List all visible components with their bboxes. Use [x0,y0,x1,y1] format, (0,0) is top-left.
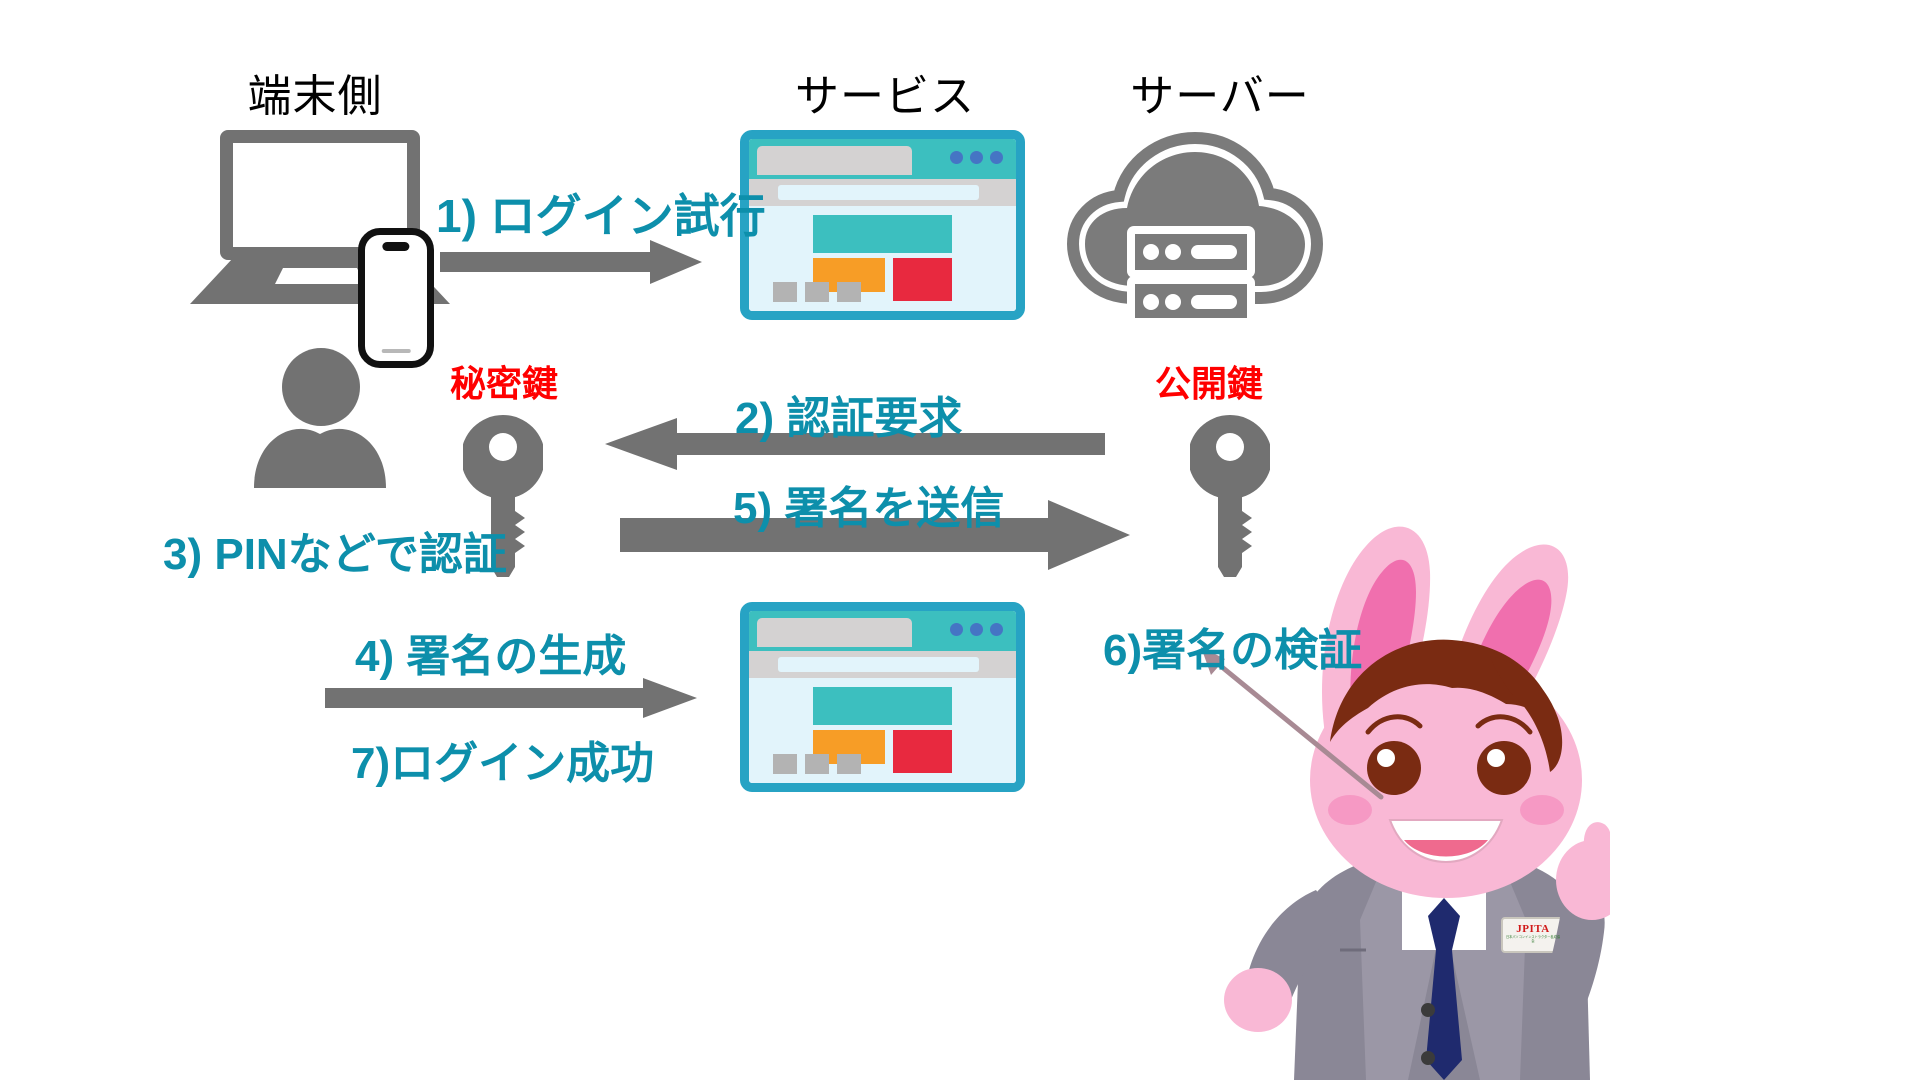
step-3-label: 3) PINなどで認証 [163,518,507,582]
heading-server: サーバー [1095,60,1345,124]
content-block-gray-1 [773,754,797,775]
diagram-canvas: 端末側 サービス サーバー 秘密鍵 [0,0,1920,1080]
content-block-teal [813,215,952,253]
content-block-gray-2 [805,282,829,303]
arrow-step-1 [440,240,720,290]
mascot-badge-subtext: 日本パソコンインストラクター養成協会 [1505,936,1561,944]
content-block-red [893,258,952,301]
step-2-label: 2) 認証要求 [735,382,962,446]
content-block-red [893,730,952,773]
browser-window-icon-bottom [740,602,1025,792]
content-block-gray-3 [837,754,861,775]
step-4-label: 4) 署名の生成 [355,620,626,684]
step-5-label: 5) 署名を送信 [733,472,1004,536]
browser-tab [757,618,912,647]
phone-notch-icon [382,242,409,251]
content-block-gray-1 [773,282,797,303]
content-block-gray-2 [805,754,829,775]
step-7-label: 7)ログイン成功 [351,727,654,791]
content-block-teal [813,687,952,725]
browser-window-dots-icon [950,623,1003,636]
browser-window-dots-icon [950,151,1003,164]
person-icon [240,348,400,488]
step-6-label: 6)署名の検証 [1103,614,1362,678]
browser-tab [757,146,912,175]
browser-url-field [778,657,978,672]
content-block-gray-3 [837,282,861,303]
private-key-label: 秘密鍵 [450,355,558,407]
arrow-step-4-7 [325,678,715,722]
smartphone-icon [358,228,434,368]
browser-window-icon-top [740,130,1025,320]
heading-client: 端末側 [190,60,440,124]
cloud-server-icon [1065,118,1325,318]
heading-service: サービス [760,60,1010,124]
mascot-badge-label: JPITA 日本パソコンインストラクター養成協会 [1505,923,1561,944]
step-1-label: 1) ログイン試行 [436,180,766,246]
browser-url-field [778,185,978,200]
public-key-label: 公開鍵 [1155,355,1263,407]
